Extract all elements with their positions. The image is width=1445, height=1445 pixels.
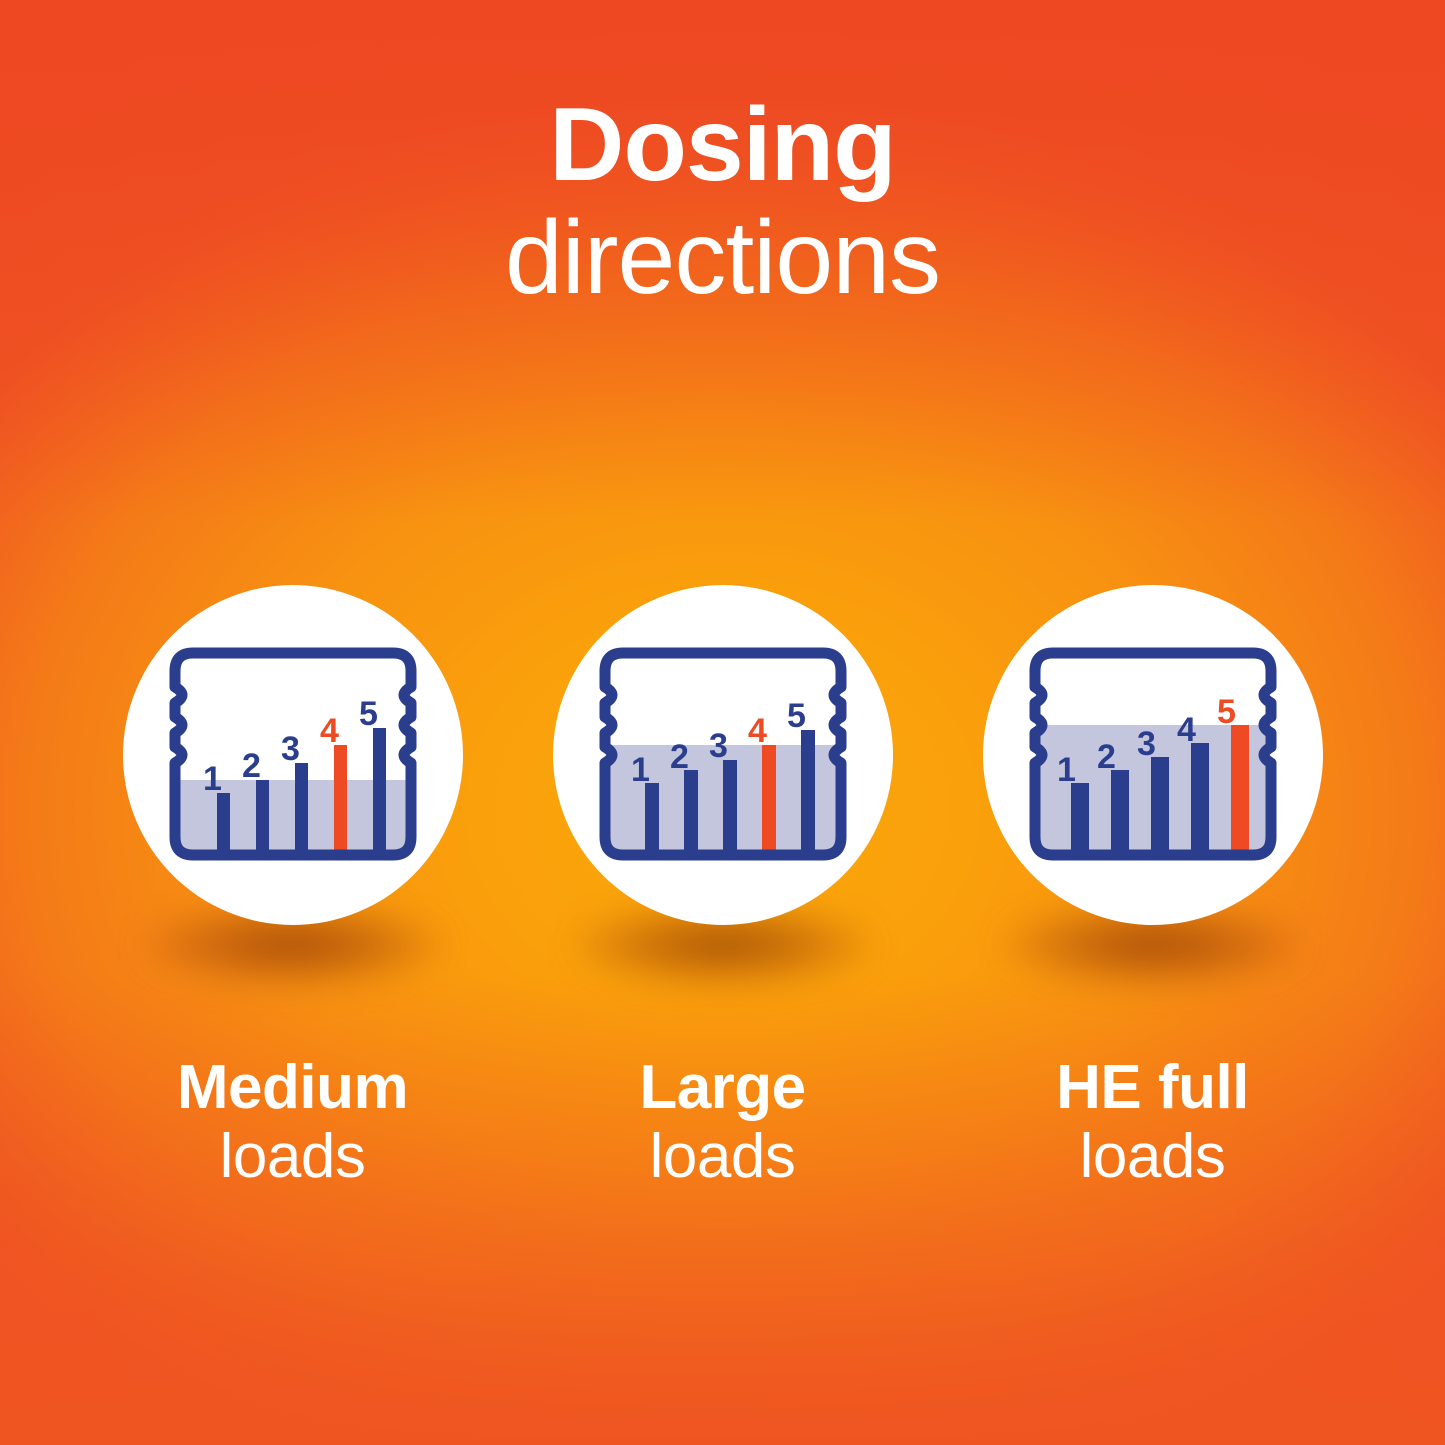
dosing-card-label-large: Large loads xyxy=(639,1055,805,1189)
cap-mark-4: 4 xyxy=(320,712,339,750)
dose-bar-3 xyxy=(295,763,308,855)
dose-bar-5 xyxy=(373,728,386,855)
dosing-label-sub: loads xyxy=(177,1124,408,1189)
dosing-label-main: Large xyxy=(639,1055,805,1120)
page-title: Dosing directions xyxy=(0,92,1445,312)
cap-mark-3: 3 xyxy=(281,730,300,768)
dose-bar-4 xyxy=(334,745,347,855)
dosing-card-he-full: 1 2 3 4 5 HE full loads xyxy=(938,585,1368,1189)
cap-mark-2: 2 xyxy=(242,747,261,785)
dose-bar-4 xyxy=(762,745,776,855)
cap-mark-4: 4 xyxy=(748,712,767,750)
cap-mark-5: 5 xyxy=(787,697,806,735)
page-title-line-2: directions xyxy=(0,205,1445,312)
dose-bar-1 xyxy=(645,783,659,855)
cap-mark-4: 4 xyxy=(1177,711,1196,749)
dosing-card-large: 1 2 3 4 5 Large loads xyxy=(508,585,938,1189)
dose-bar-1 xyxy=(1071,783,1089,855)
cap-mark-5: 5 xyxy=(359,695,378,733)
dosing-directions-poster: Dosing directions xyxy=(0,0,1445,1445)
dose-bar-5 xyxy=(801,730,815,855)
dose-bar-5 xyxy=(1231,725,1249,855)
dosing-card-medium: 1 2 3 4 5 Medium loads xyxy=(78,585,508,1189)
dosing-label-sub: loads xyxy=(1056,1124,1249,1189)
dose-bar-3 xyxy=(723,760,737,855)
cap-mark-2: 2 xyxy=(1097,738,1116,776)
cap-mark-3: 3 xyxy=(709,727,728,765)
dosing-card-label-medium: Medium loads xyxy=(177,1055,408,1189)
dose-bar-2 xyxy=(684,770,698,855)
dose-bar-4 xyxy=(1191,743,1209,855)
dose-bar-1 xyxy=(217,793,230,855)
cap-mark-3: 3 xyxy=(1137,725,1156,763)
cap-mark-1: 1 xyxy=(1057,751,1076,789)
cap-mark-2: 2 xyxy=(670,738,689,776)
measuring-cap-icon: 1 2 3 4 5 xyxy=(553,585,893,925)
measuring-cap-icon: 1 2 3 4 5 xyxy=(123,585,463,925)
dosing-badge-large: 1 2 3 4 5 xyxy=(553,585,893,925)
measuring-cap-icon: 1 2 3 4 5 xyxy=(983,585,1323,925)
dosing-label-main: HE full xyxy=(1056,1055,1249,1120)
dosing-label-sub: loads xyxy=(639,1124,805,1189)
cap-mark-1: 1 xyxy=(631,751,650,789)
dosing-label-main: Medium xyxy=(177,1055,408,1120)
dosing-badge-he-full: 1 2 3 4 5 xyxy=(983,585,1323,925)
dosing-card-label-he-full: HE full loads xyxy=(1056,1055,1249,1189)
cap-mark-1: 1 xyxy=(203,760,222,798)
dose-bar-2 xyxy=(256,780,269,855)
cap-mark-5: 5 xyxy=(1217,693,1236,731)
dose-bar-3 xyxy=(1151,757,1169,855)
dose-bar-2 xyxy=(1111,770,1129,855)
page-title-line-1: Dosing xyxy=(0,92,1445,199)
dosing-card-list: 1 2 3 4 5 Medium loads xyxy=(0,585,1445,1285)
dosing-badge-medium: 1 2 3 4 5 xyxy=(123,585,463,925)
